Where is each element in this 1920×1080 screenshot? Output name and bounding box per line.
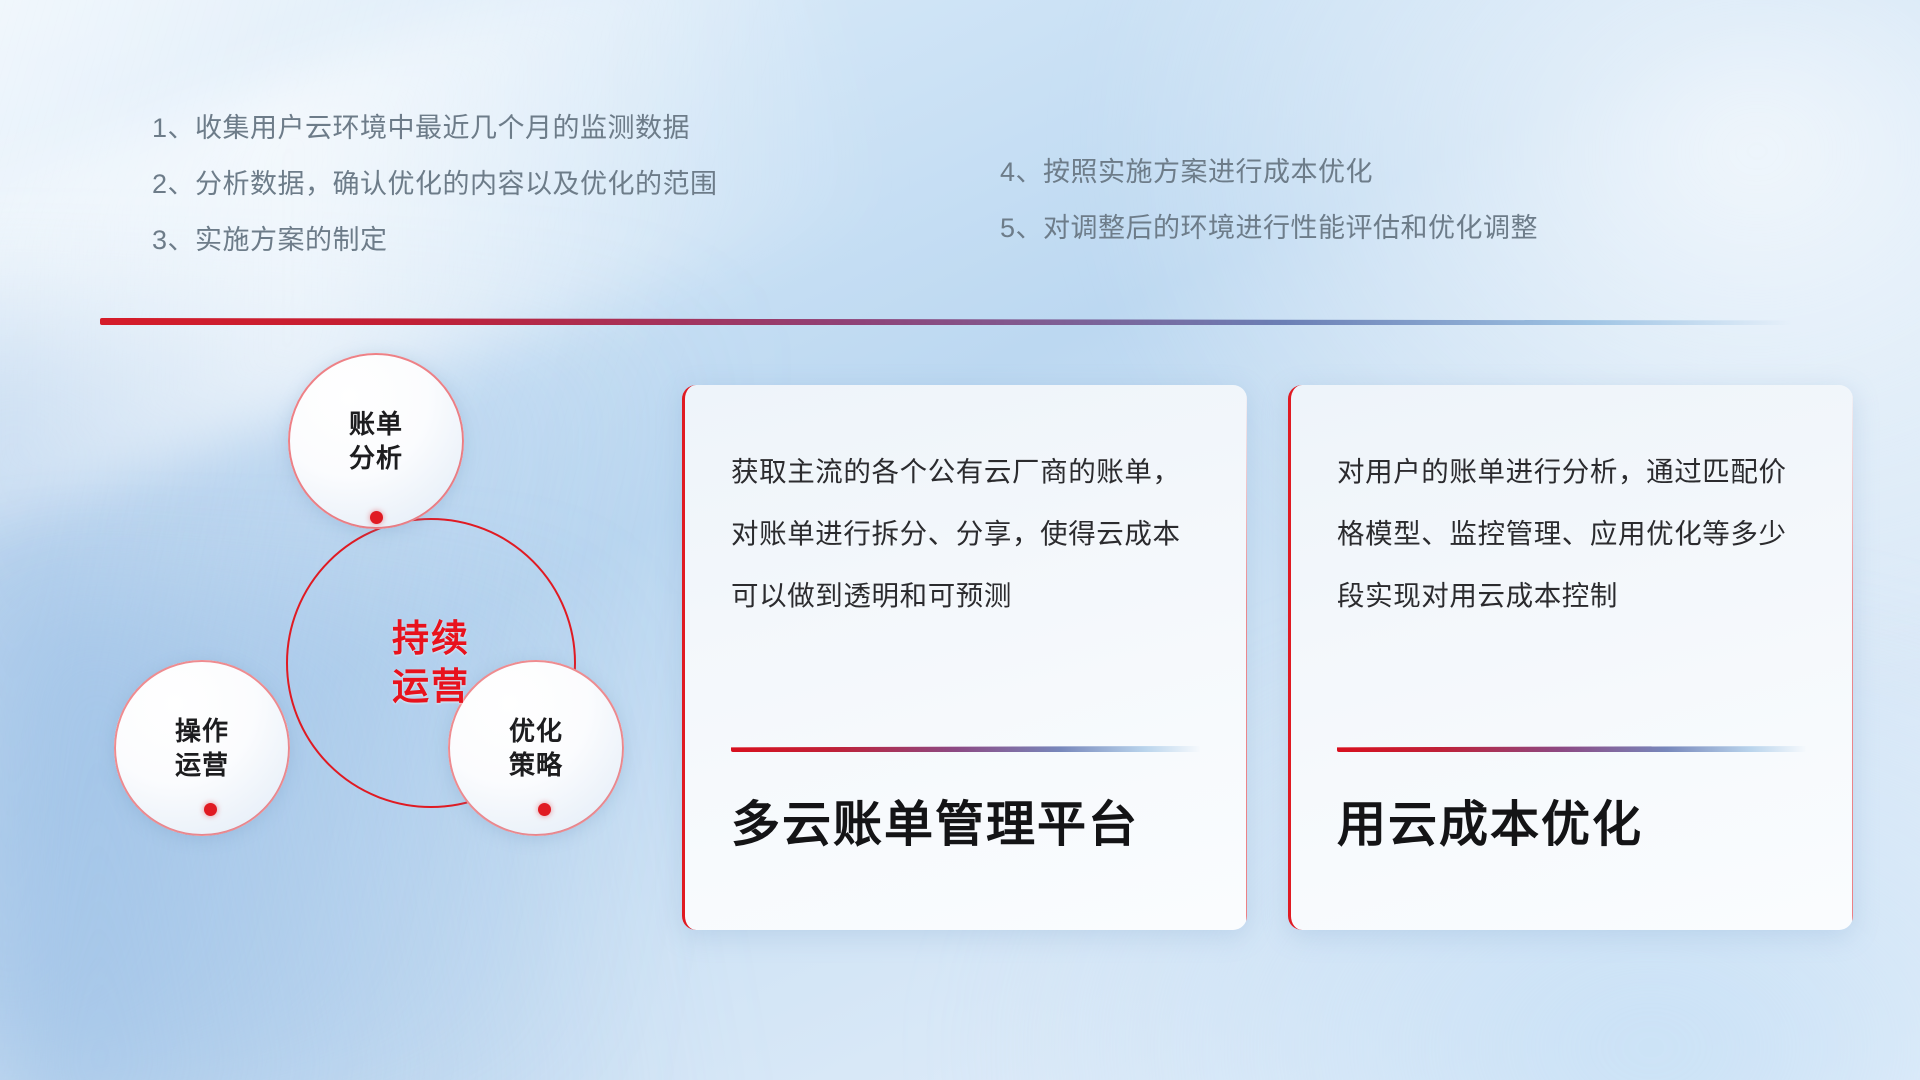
steps-section: 1、收集用户云环境中最近几个月的监测数据 2、分析数据，确认优化的内容以及优化的…: [0, 100, 1920, 280]
feature-card-cost-optimization[interactable]: 对用户的账单进行分析，通过匹配价格模型、监控管理、应用优化等多少段实现对用云成本…: [1288, 385, 1853, 930]
step-item: 4、按照实施方案进行成本优化: [1000, 144, 1538, 200]
venn-center-label: 持续 运营: [392, 615, 470, 711]
card-body-text: 获取主流的各个公有云厂商的账单，对账单进行拆分、分享，使得云成本可以做到透明和可…: [731, 441, 1205, 627]
venn-diagram: 账单 分析 操作 运营 优化 策略 持续 运营: [96, 355, 636, 915]
venn-bubble-operations[interactable]: 操作 运营: [114, 660, 290, 836]
card-title: 多云账单管理平台: [731, 785, 1139, 856]
venn-bubble-bill-analysis[interactable]: 账单 分析: [288, 353, 464, 529]
step-item: 2、分析数据，确认优化的内容以及优化的范围: [152, 156, 718, 212]
step-item: 3、实施方案的制定: [152, 212, 718, 268]
venn-center: 持续 运营: [286, 518, 576, 808]
step-item: 1、收集用户云环境中最近几个月的监测数据: [152, 100, 718, 156]
feature-card-multicloud-billing[interactable]: 获取主流的各个公有云厂商的账单，对账单进行拆分、分享，使得云成本可以做到透明和可…: [682, 385, 1247, 930]
card-divider: [1337, 746, 1807, 752]
venn-bubble-label: 账单 分析: [349, 407, 403, 476]
step-item: 5、对调整后的环境进行性能评估和优化调整: [1000, 200, 1538, 256]
venn-bubble-label: 操作 运营: [175, 714, 229, 783]
card-body-text: 对用户的账单进行分析，通过匹配价格模型、监控管理、应用优化等多少段实现对用云成本…: [1337, 441, 1811, 627]
steps-left-column: 1、收集用户云环境中最近几个月的监测数据 2、分析数据，确认优化的内容以及优化的…: [152, 100, 718, 268]
venn-node-bottom-left-icon: [204, 803, 217, 816]
steps-right-column: 4、按照实施方案进行成本优化 5、对调整后的环境进行性能评估和优化调整: [1000, 144, 1538, 256]
card-divider: [731, 746, 1201, 752]
card-title: 用云成本优化: [1337, 785, 1643, 856]
